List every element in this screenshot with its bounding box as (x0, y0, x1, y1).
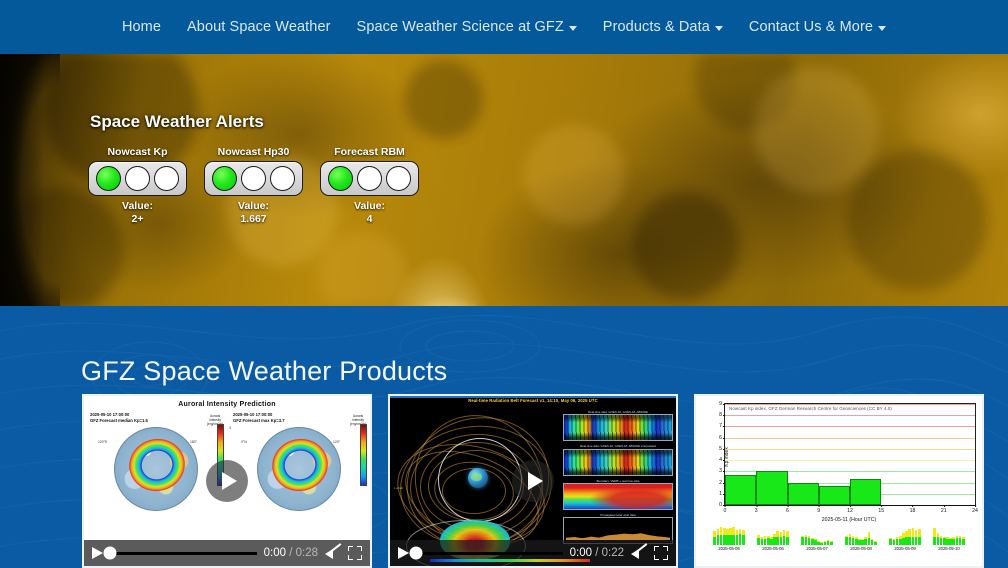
duration: 0:28 (296, 547, 318, 559)
alert-label: Nowcast Kp (88, 146, 187, 158)
x-tick-label: 15 (878, 508, 884, 514)
alert-forecast-rbm[interactable]: Forecast RBM Value: 4 (320, 146, 419, 226)
y-tick-label: 4 (719, 457, 722, 463)
current-time: 0:00 (264, 547, 286, 559)
chevron-down-icon (878, 26, 886, 31)
alert-value-label: Value: (204, 200, 303, 213)
thumbnail-barchart (752, 526, 794, 545)
earth-globe (468, 468, 488, 488)
seek-handle[interactable] (410, 547, 423, 560)
page-root: Home About Space Weather Space Weather S… (0, 0, 1008, 568)
products-section: GFZ Space Weather Products Auroral Inten… (0, 306, 1008, 568)
kp-day-thumbnail[interactable]: 2025-05-05 (708, 526, 750, 551)
play-icon[interactable] (92, 547, 103, 559)
x-tick-label: 21 (941, 508, 947, 514)
gridline (725, 415, 975, 416)
thumbnail-bar-cap (742, 530, 745, 535)
time-separator: / (595, 547, 598, 559)
chart-bar (756, 471, 787, 505)
y-tick-label: 0 (719, 502, 722, 508)
x-tick-label: 18 (910, 508, 916, 514)
y-tick-label: 9 (719, 401, 722, 407)
play-overlay-button[interactable] (512, 460, 554, 502)
aurora-globe (257, 427, 341, 511)
thumbnail-date: 2025-05-06 (752, 546, 794, 551)
thumbnail-barchart (796, 526, 838, 545)
current-time: 0:00 (570, 547, 592, 559)
nav-item-space-weather-science-at-gfz[interactable]: Space Weather Science at GFZ (344, 13, 590, 41)
longitude-label: 0°N (241, 440, 247, 444)
lamp-red (154, 166, 179, 191)
kp-day-thumbnail[interactable]: 2025-05-09 (884, 526, 926, 551)
card-auroral-intensity-prediction[interactable]: Auroral Intensity Prediction 2025-05-10 … (82, 394, 372, 568)
x-tick-label: 9 (817, 508, 820, 514)
alert-value: Value: 4 (320, 200, 419, 226)
alerts-title: Space Weather Alerts (90, 112, 419, 132)
x-tick-label: 24 (972, 508, 978, 514)
alert-label: Forecast RBM (320, 146, 419, 158)
chevron-down-icon (569, 26, 577, 31)
longitude-label: 180° (190, 440, 197, 444)
fullscreen-icon[interactable] (348, 546, 362, 560)
time-separator: / (289, 547, 292, 559)
kp-day-thumbnail[interactable]: 2025-05-10 (928, 526, 970, 551)
lamp-red (270, 166, 295, 191)
thumbnail-bar-cap (786, 531, 789, 537)
thumbnail-barchart (928, 526, 970, 545)
mute-icon[interactable] (325, 546, 341, 560)
aurora-heading: Auroral Intensity Prediction (84, 396, 370, 408)
traffic-lights-row: Nowcast Kp Value: 2+ Nowcast Hp30 (88, 146, 419, 226)
thumbnail-date: 2025-05-07 (796, 546, 838, 551)
space-weather-alerts-panel: Space Weather Alerts Nowcast Kp Value: 2… (88, 112, 419, 226)
y-tick-label: 5 (719, 446, 722, 452)
mute-icon[interactable] (631, 546, 647, 560)
side-panel: Real-time data: GOES-16, GOES-18, ABS/ID… (563, 410, 673, 441)
alert-value: Value: 1.667 (204, 200, 303, 226)
gridline (725, 404, 975, 405)
page-title: GFZ Space Weather Products (81, 356, 447, 387)
play-overlay-button[interactable] (206, 460, 248, 502)
alert-nowcast-kp[interactable]: Nowcast Kp Value: 2+ (88, 146, 187, 226)
aurora-globe (114, 427, 198, 511)
auroral-oval (122, 431, 191, 497)
gridline (725, 438, 975, 439)
radiation-belt-video[interactable]: Real-time Radiation Belt Forecast v1, 14… (390, 396, 676, 566)
gridline (725, 449, 975, 450)
kp-daily-thumbnails: 2025-05-052025-05-062025-05-072025-05-08… (702, 523, 976, 551)
aurora-panel-max: 2025-05-10 17:00:00 GFZ Forecast max Kp=… (227, 412, 370, 511)
x-tick-label: 0 (724, 508, 727, 514)
kp-chart: Nowcast Kp index, GFZ German Research Ce… (724, 403, 976, 506)
seek-slider[interactable] (110, 552, 257, 555)
seek-slider[interactable] (416, 552, 563, 555)
y-tick-label: 6 (719, 435, 722, 441)
alert-value: Value: 2+ (88, 200, 187, 226)
alert-value-number: 4 (320, 213, 419, 226)
y-tick-label: 1 (719, 491, 722, 497)
nav-item-about-space-weather[interactable]: About Space Weather (174, 13, 344, 41)
longitude-label: 120°E (98, 440, 107, 444)
thumbnail-date: 2025-05-10 (928, 546, 970, 551)
solar-limb-edge (0, 54, 60, 306)
duration: 0:22 (602, 547, 624, 559)
y-tick-label: 8 (719, 412, 722, 418)
aurora-panel-median: 2025-05-10 17:00:00 GFZ Forecast median … (84, 412, 227, 511)
card-radiation-belt-forecast[interactable]: Real-time Radiation Belt Forecast v1, 14… (388, 394, 678, 568)
card-nowcast-kp-index[interactable]: Nowcast Kp index, GFZ German Research Ce… (694, 394, 984, 568)
thumbnail-bar-cap (918, 529, 921, 537)
y-tick-label: 2 (719, 480, 722, 486)
nav-item-label: Space Weather Science at GFZ (357, 19, 564, 35)
lamp-yellow (357, 166, 382, 191)
thumbnail-bar-cap (962, 537, 965, 539)
x-tick-label: 12 (847, 508, 853, 514)
lamp-yellow (125, 166, 150, 191)
side-panel: Boundary: VERB + real-time data (563, 479, 673, 510)
x-tick-label: 3 (755, 508, 758, 514)
traffic-light-box (88, 161, 187, 196)
nav-item-label: About Space Weather (187, 19, 331, 35)
thumbnail-barchart (708, 526, 750, 545)
seek-handle[interactable] (104, 547, 117, 560)
nav-item-label: Home (122, 19, 161, 35)
thumbnail-bar (962, 537, 965, 545)
video-controls: 0:00 / 0:28 (84, 540, 370, 566)
lamp-green (328, 166, 353, 191)
thumbnail-bar-cap (868, 532, 871, 538)
lamp-red (386, 166, 411, 191)
chart-plot-area (725, 404, 975, 505)
nav-item-contact-us-and-more[interactable]: Contact Us & More (736, 13, 899, 41)
longitude-label: 120° (333, 440, 340, 444)
alert-nowcast-hp30[interactable]: Nowcast Hp30 Value: 1.667 (204, 146, 303, 226)
thumbnail-barchart (884, 526, 926, 545)
chart-bar (725, 475, 756, 505)
decorative-colorbar (430, 559, 590, 562)
kp-day-thumbnail[interactable]: 2025-05-06 (752, 526, 794, 551)
lamp-green (96, 166, 121, 191)
lamp-green (212, 166, 237, 191)
side-panel: Real-time data: GOES-16, GOES-18, ABS/ID… (563, 444, 673, 475)
product-cards: Auroral Intensity Prediction 2025-05-10 … (82, 394, 984, 568)
nav-item-label: Contact Us & More (749, 19, 873, 35)
thumbnail-bar (918, 529, 921, 545)
chevron-down-icon (715, 26, 723, 31)
fullscreen-icon[interactable] (654, 546, 668, 560)
thumbnail-bar (742, 530, 745, 545)
thumbnail-bar-cap (874, 541, 877, 542)
colorbar (360, 424, 367, 486)
alert-value-number: 2+ (88, 213, 187, 226)
thumbnail-bar (786, 531, 789, 545)
thumbnail-barchart (840, 526, 882, 545)
spectrogram (563, 414, 673, 441)
spectrogram (563, 449, 673, 476)
kp-day-thumbnail[interactable]: 2025-05-08 (840, 526, 882, 551)
play-icon[interactable] (398, 547, 409, 559)
y-tick-label: 7 (719, 423, 722, 429)
thumbnail-date: 2025-05-05 (708, 546, 750, 551)
gridline (725, 426, 975, 427)
thumbnail-date: 2025-05-08 (840, 546, 882, 551)
nav-item-label: Products & Data (603, 19, 710, 35)
kp-day-thumbnail[interactable]: 2025-05-07 (796, 526, 838, 551)
radiation-belt-side-panels: Real-time data: GOES-16, GOES-18, ABS/ID… (563, 410, 673, 547)
video-controls: 0:00 / 0:22 (390, 540, 676, 566)
chart-bar (850, 479, 881, 505)
y-tick-label: 3 (719, 468, 722, 474)
thumbnail-date: 2025-05-09 (884, 546, 926, 551)
nav-item-products-and-data[interactable]: Products & Data (590, 13, 736, 41)
gridline (725, 460, 975, 461)
lamp-yellow (241, 166, 266, 191)
alert-label: Nowcast Hp30 (204, 146, 303, 158)
nav-item-home[interactable]: Home (109, 13, 174, 41)
traffic-light-box (204, 161, 303, 196)
radiation-belt-heading: Real-time Radiation Belt Forecast v1, 14… (390, 398, 676, 403)
alert-value-label: Value: (88, 200, 187, 213)
time-display: 0:00 / 0:28 (264, 547, 318, 559)
thumbnail-bar (874, 541, 877, 545)
chart-bar (788, 483, 819, 505)
alert-value-number: 1.667 (204, 213, 303, 226)
axis-note: L-shell (394, 486, 403, 490)
x-tick-label: 6 (786, 508, 789, 514)
chart-bar (819, 486, 850, 505)
main-navigation: Home About Space Weather Space Weather S… (0, 0, 1008, 54)
time-display: 0:00 / 0:22 (570, 547, 624, 559)
thumbnail-bar (830, 541, 833, 545)
traffic-light-box (320, 161, 419, 196)
aurora-video[interactable]: Auroral Intensity Prediction 2025-05-10 … (84, 396, 370, 566)
thumbnail-bar-cap (830, 541, 833, 542)
alert-value-label: Value: (320, 200, 419, 213)
spectrogram (563, 483, 673, 510)
auroral-oval (265, 431, 334, 497)
